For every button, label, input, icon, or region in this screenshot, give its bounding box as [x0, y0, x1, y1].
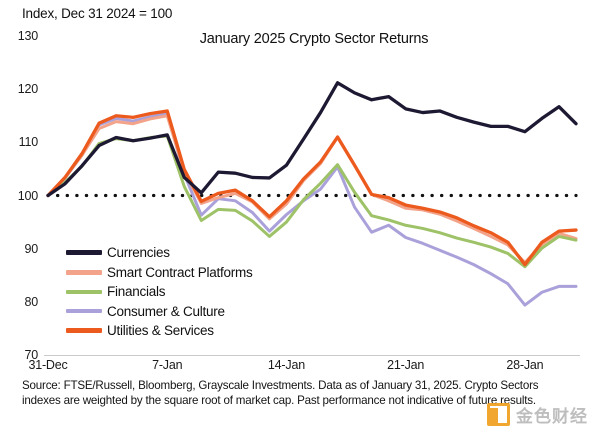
legend-label-consumer-culture: Consumer & Culture	[107, 304, 225, 319]
y-axis-note: Index, Dec 31 2024 = 100	[22, 6, 172, 21]
chart-legend: Currencies Smart Contract Platforms Fina…	[66, 243, 253, 341]
y-tick-110: 110	[19, 135, 38, 149]
x-tick-14-jan: 14-Jan	[268, 358, 305, 372]
x-tick-31-dec: 31-Dec	[28, 358, 67, 372]
x-tick-28-jan: 28-Jan	[506, 358, 543, 372]
series-line-currencies	[48, 83, 576, 196]
y-tick-130: 130	[18, 29, 38, 43]
watermark-logo-icon	[487, 403, 510, 426]
watermark: 金色财经	[487, 402, 588, 427]
crypto-sector-returns-chart: Index, Dec 31 2024 = 100 January 2025 Cr…	[0, 0, 600, 432]
legend-label-currencies: Currencies	[107, 245, 170, 260]
source-note: Source: FTSE/Russell, Bloomberg, Graysca…	[22, 378, 546, 408]
legend-item-currencies[interactable]: Currencies	[66, 243, 253, 263]
legend-swatch-utilities-services	[66, 328, 102, 333]
legend-item-consumer-culture[interactable]: Consumer & Culture	[66, 302, 253, 322]
series-line-utilities-services	[48, 111, 576, 265]
legend-swatch-consumer-culture	[66, 309, 102, 313]
x-tick-21-jan: 21-Jan	[387, 358, 424, 372]
y-tick-100: 100	[18, 189, 38, 203]
legend-swatch-smart-contract-platforms	[66, 270, 102, 275]
y-tick-80: 80	[24, 295, 38, 309]
legend-swatch-financials	[66, 290, 102, 294]
legend-item-smart-contract-platforms[interactable]: Smart Contract Platforms	[66, 263, 253, 283]
legend-item-financials[interactable]: Financials	[66, 282, 253, 302]
watermark-text: 金色财经	[516, 402, 588, 427]
x-axis-line	[44, 355, 580, 356]
legend-label-smart-contract-platforms: Smart Contract Platforms	[107, 265, 253, 280]
y-tick-120: 120	[18, 82, 38, 96]
y-tick-90: 90	[24, 242, 38, 256]
legend-swatch-currencies	[66, 250, 102, 255]
x-tick-7-jan: 7-Jan	[152, 358, 182, 372]
series-line-smart-contract-platforms	[48, 116, 576, 263]
legend-item-utilities-services[interactable]: Utilities & Services	[66, 321, 253, 341]
legend-label-financials: Financials	[107, 284, 165, 299]
legend-label-utilities-services: Utilities & Services	[107, 323, 214, 338]
